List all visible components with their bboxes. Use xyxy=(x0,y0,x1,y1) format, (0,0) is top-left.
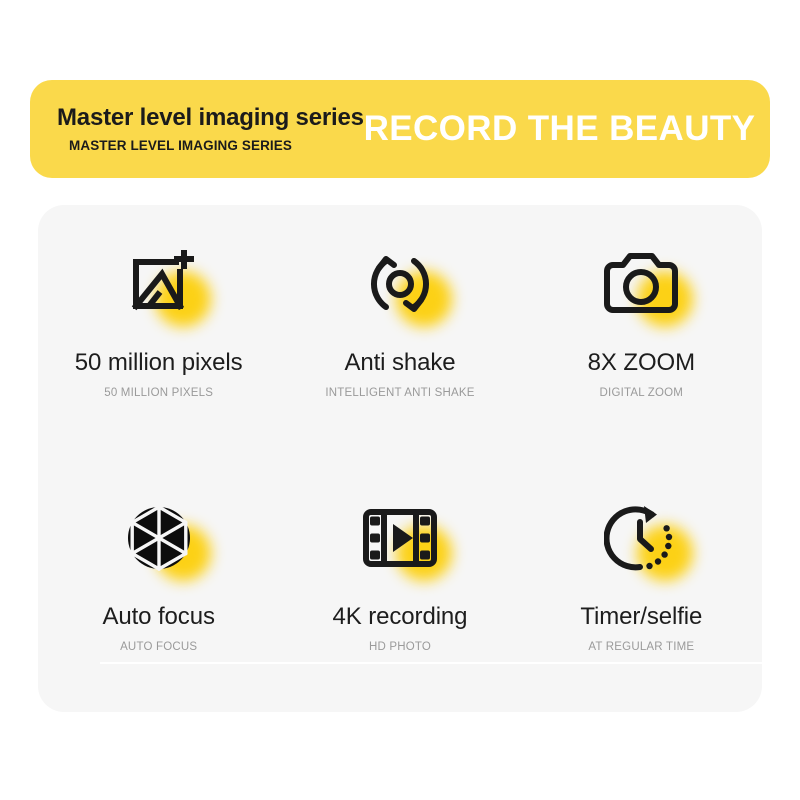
feature-item-4k-recording[interactable]: 4K recording HD PHOTO xyxy=(279,459,520,713)
feature-item-auto-focus[interactable]: Auto focus AUTO FOCUS xyxy=(38,459,279,713)
feature-title: 50 million pixels xyxy=(75,349,243,377)
feature-item-timer-selfie[interactable]: Timer/selfie AT REGULAR TIME xyxy=(521,459,762,713)
feature-card: 50 million pixels 50 MILLION PIXELS Anti… xyxy=(38,205,762,712)
feature-subtitle: DIGITAL ZOOM xyxy=(600,387,684,399)
camera-icon xyxy=(600,251,682,317)
feature-row-top: 50 million pixels 50 MILLION PIXELS Anti… xyxy=(38,205,762,459)
banner-title: Master level imaging series xyxy=(57,105,364,131)
feature-title: Timer/selfie xyxy=(580,603,702,631)
icon-container xyxy=(109,241,209,327)
film-play-icon xyxy=(361,505,439,571)
timer-clock-icon xyxy=(604,502,678,574)
feature-item-50-million-pixels[interactable]: 50 million pixels 50 MILLION PIXELS xyxy=(38,205,279,459)
feature-title: Anti shake xyxy=(344,349,455,377)
icon-container xyxy=(591,241,691,327)
feature-title: 8X ZOOM xyxy=(588,349,695,377)
header-banner: Master level imaging series MASTER LEVEL… xyxy=(30,80,770,178)
icon-container xyxy=(350,495,450,581)
image-plus-icon xyxy=(122,250,196,318)
icon-container xyxy=(591,495,691,581)
anti-shake-rotate-icon xyxy=(364,248,436,320)
feature-subtitle: AT REGULAR TIME xyxy=(588,641,694,653)
banner-title-group: Master level imaging series MASTER LEVEL… xyxy=(57,105,357,153)
banner-subtitle: MASTER LEVEL IMAGING SERIES xyxy=(69,138,292,153)
feature-title: 4K recording xyxy=(333,603,468,631)
feature-row-bottom: Auto focus AUTO FOCUS xyxy=(38,459,762,713)
icon-container xyxy=(350,241,450,327)
feature-item-anti-shake[interactable]: Anti shake INTELLIGENT ANTI SHAKE xyxy=(279,205,520,459)
row-divider xyxy=(100,662,764,664)
icon-container xyxy=(109,495,209,581)
feature-title: Auto focus xyxy=(102,603,214,631)
feature-item-8x-zoom[interactable]: 8X ZOOM DIGITAL ZOOM xyxy=(521,205,762,459)
aperture-icon xyxy=(123,502,195,574)
feature-subtitle: HD PHOTO xyxy=(369,641,431,653)
feature-subtitle: AUTO FOCUS xyxy=(120,641,197,653)
feature-subtitle: 50 MILLION PIXELS xyxy=(104,387,213,399)
banner-headline: RECORD THE BEAUTY xyxy=(357,109,762,149)
feature-subtitle: INTELLIGENT ANTI SHAKE xyxy=(325,387,474,399)
